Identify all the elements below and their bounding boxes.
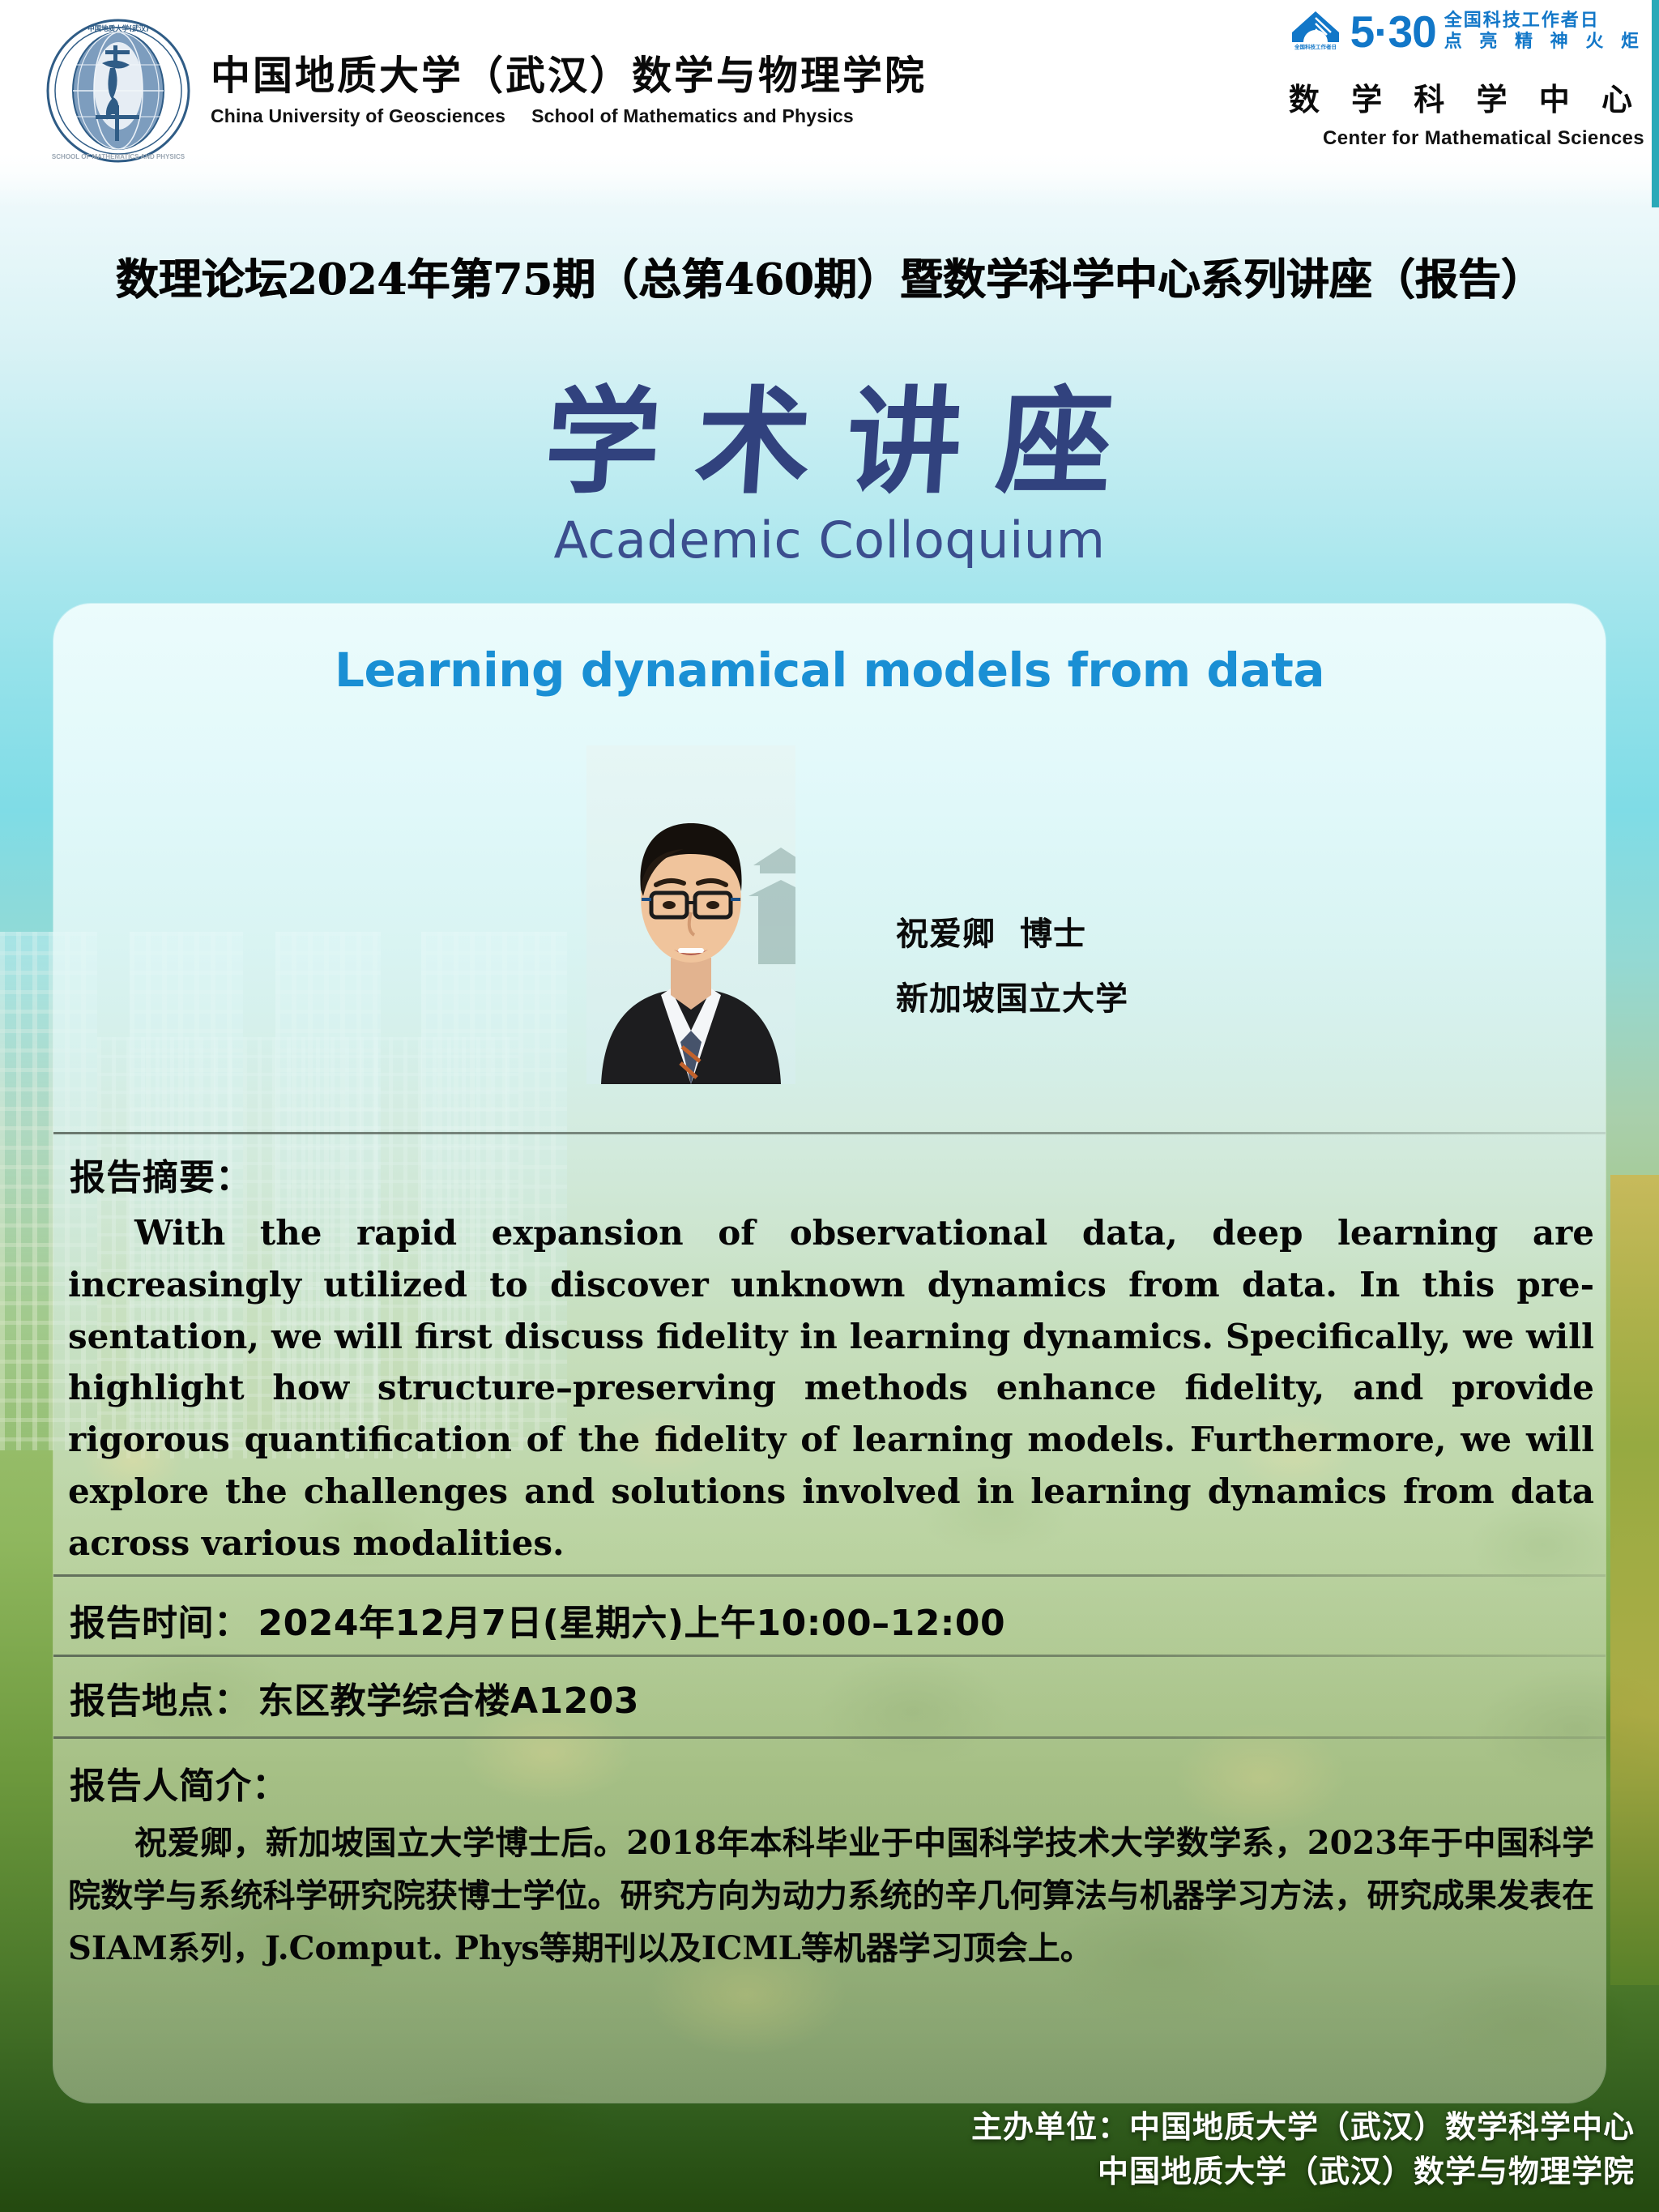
university-name-en-2: School of Mathematics and Physics bbox=[531, 105, 854, 126]
footer-organizer-line1: 主办单位：中国地质大学（武汉）数学科学中心 bbox=[971, 2105, 1635, 2150]
divider-above-bio bbox=[53, 1736, 1606, 1739]
speaker-name-row: 祝爱卿博士 bbox=[896, 907, 1128, 954]
speaker-portrait bbox=[586, 745, 795, 1084]
campaign-slogan: 全国科技工作者日 点 亮 精 神 火 炬 bbox=[1444, 11, 1644, 52]
svg-text:全国科技工作者日: 全国科技工作者日 bbox=[1294, 43, 1337, 50]
poster-root: 中国地质大学(武汉) SCHOOL OF MATHEMATICS AND PHY… bbox=[0, 0, 1659, 2212]
divider-above-time bbox=[53, 1574, 1606, 1577]
lecture-location-row: 报告地点：东区教学综合楼A1203 bbox=[70, 1672, 639, 1723]
speaker-degree: 博士 bbox=[1020, 916, 1086, 953]
campaign-slogan-line2: 点 亮 精 神 火 炬 bbox=[1444, 32, 1644, 53]
center-branding: 全国科技工作者日 5·30 全国科技工作者日 点 亮 精 神 火 炬 数 学 科… bbox=[1289, 8, 1644, 150]
content-card: Learning dynamical models from data bbox=[53, 604, 1606, 2103]
svg-text:SCHOOL OF MATHEMATICS AND PHYS: SCHOOL OF MATHEMATICS AND PHYSICS bbox=[52, 153, 186, 160]
forum-series-line: 数理论坛2024年第75期（总第460期）暨数学科学中心系列讲座（报告） bbox=[0, 246, 1659, 307]
abstract-body: With the rapid expansion of observationa… bbox=[68, 1207, 1594, 1569]
footer-organizer-line2: 中国地质大学（武汉）数学与物理学院 bbox=[971, 2150, 1635, 2194]
campaign-slogan-line1: 全国科技工作者日 bbox=[1444, 11, 1644, 32]
speaker-affiliation: 新加坡国立大学 bbox=[896, 972, 1128, 1019]
banner-subtitle-en: Academic Colloquium bbox=[0, 510, 1659, 570]
university-name-group: 中国地质大学（武汉）数学与物理学院 China University of Ge… bbox=[211, 54, 927, 128]
lecture-location-value: 东区教学综合楼A1203 bbox=[258, 1680, 640, 1722]
bio-body: 祝爱卿，新加坡国立大学博士后。2018年本科毕业于中国科学技术大学数学系，202… bbox=[68, 1817, 1594, 1975]
university-name-en-1: China University of Geosciences bbox=[211, 105, 505, 126]
svg-text:中国地质大学(武汉): 中国地质大学(武汉) bbox=[87, 24, 149, 33]
science-workers-day-icon: 全国科技工作者日 bbox=[1289, 8, 1342, 55]
center-name-en: Center for Mathematical Sciences bbox=[1289, 127, 1644, 150]
lecture-title: Learning dynamical models from data bbox=[53, 643, 1606, 698]
university-branding: 中国地质大学(武汉) SCHOOL OF MATHEMATICS AND PHY… bbox=[45, 18, 927, 164]
poster-footer: 主办单位：中国地质大学（武汉）数学科学中心 中国地质大学（武汉）数学与物理学院 bbox=[971, 2105, 1635, 2194]
abstract-heading: 报告摘要： bbox=[70, 1148, 252, 1200]
speaker-name: 祝爱卿 bbox=[896, 916, 996, 953]
cug-seal-icon: 中国地质大学(武汉) SCHOOL OF MATHEMATICS AND PHY… bbox=[45, 18, 191, 164]
lecture-time-value: 2024年12月7日(星期六)上午10:00–12:00 bbox=[258, 1603, 1006, 1644]
header-accent-rule bbox=[1652, 0, 1659, 207]
speaker-block: 祝爱卿博士 新加坡国立大学 bbox=[53, 745, 1606, 1118]
science-workers-day-logo: 全国科技工作者日 5·30 全国科技工作者日 点 亮 精 神 火 炬 bbox=[1289, 8, 1644, 55]
background-right-foliage-strip bbox=[1610, 1175, 1659, 1985]
lecture-time-label: 报告时间： bbox=[70, 1603, 250, 1644]
speaker-details: 祝爱卿博士 新加坡国立大学 bbox=[896, 907, 1128, 1019]
divider-above-location bbox=[53, 1655, 1606, 1657]
divider-above-abstract bbox=[53, 1132, 1606, 1134]
center-name-cn: 数 学 科 学 中 心 bbox=[1289, 75, 1644, 119]
lecture-time-row: 报告时间：2024年12月7日(星期六)上午10:00–12:00 bbox=[70, 1594, 1005, 1646]
university-name-en: China University of GeosciencesSchool of… bbox=[211, 105, 927, 127]
university-name-cn: 中国地质大学（武汉）数学与物理学院 bbox=[211, 54, 927, 98]
bio-heading: 报告人简介： bbox=[70, 1757, 288, 1808]
lecture-location-label: 报告地点： bbox=[70, 1680, 250, 1722]
calligraphy-title: 学术讲座 bbox=[0, 348, 1659, 515]
campaign-date: 5·30 bbox=[1350, 10, 1436, 54]
poster-header: 中国地质大学(武汉) SCHOOL OF MATHEMATICS AND PHY… bbox=[0, 0, 1659, 207]
